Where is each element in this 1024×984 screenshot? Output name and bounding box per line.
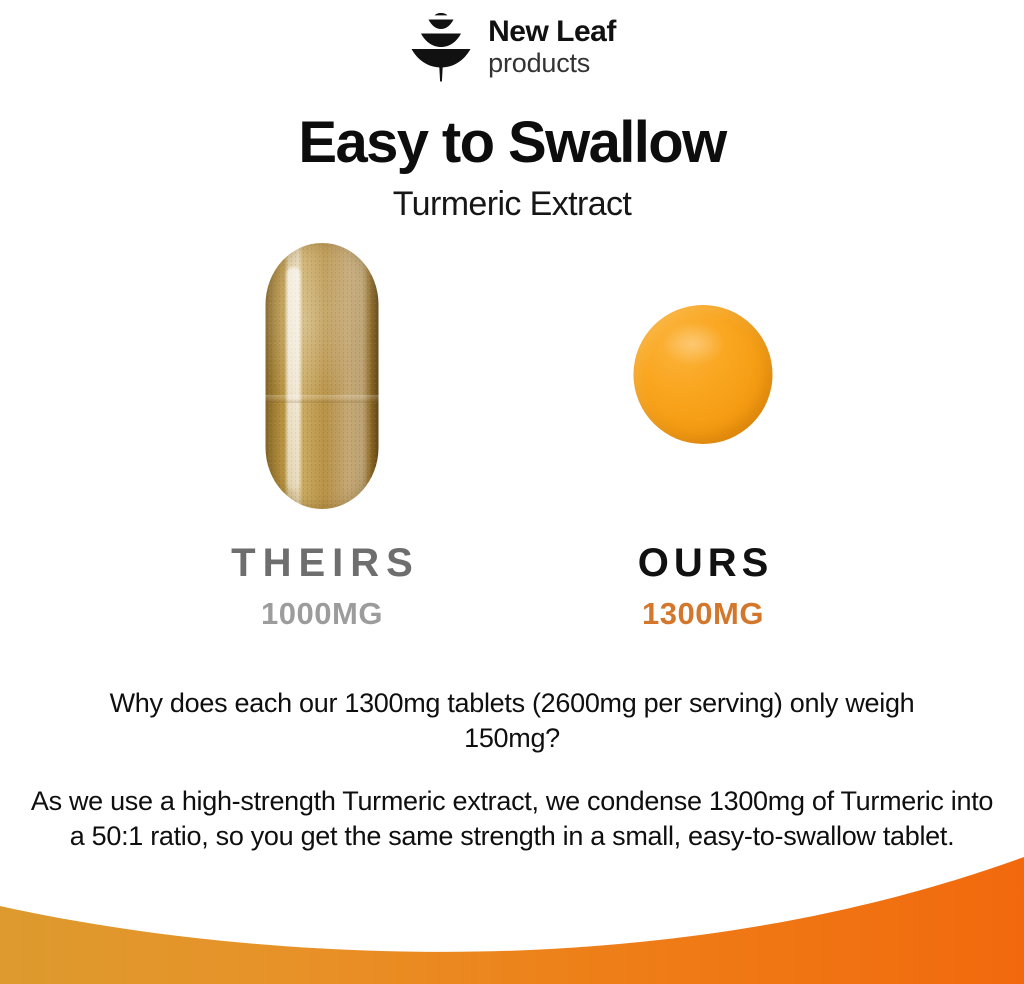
brand-header: New Leaf products (0, 8, 1024, 86)
leaf-tree-icon (408, 12, 474, 82)
ours-label: OURS (533, 541, 873, 585)
theirs-dose: 1000MG (152, 597, 492, 631)
bottom-wave-decoration (0, 844, 1024, 984)
theirs-product-image (152, 235, 492, 525)
brand-wordmark: New Leaf products (488, 17, 616, 77)
promo-page: New Leaf products Easy to Swallow Turmer… (0, 0, 1024, 984)
capsule-cap (266, 243, 379, 397)
theirs-label: THEIRS (152, 541, 492, 585)
comparison-column-ours: OURS 1300MG (533, 235, 873, 645)
round-tablet-icon (634, 305, 773, 444)
brand-name: New Leaf (488, 17, 616, 48)
answer-text: As we use a high-strength Turmeric extra… (0, 784, 1024, 853)
comparison-column-theirs: THEIRS 1000MG (152, 235, 492, 645)
question-text: Why does each our 1300mg tablets (2600mg… (0, 686, 1024, 755)
capsule-highlight (287, 267, 301, 490)
product-comparison: THEIRS 1000MG OURS 1300MG (0, 235, 1024, 645)
brand-tagline: products (488, 49, 616, 77)
capsule-icon (266, 243, 379, 509)
tablet-highlight (661, 322, 725, 366)
ours-product-image (533, 235, 873, 525)
page-subtitle: Turmeric Extract (0, 186, 1024, 223)
page-title: Easy to Swallow (0, 112, 1024, 175)
ours-dose: 1300MG (533, 597, 873, 631)
